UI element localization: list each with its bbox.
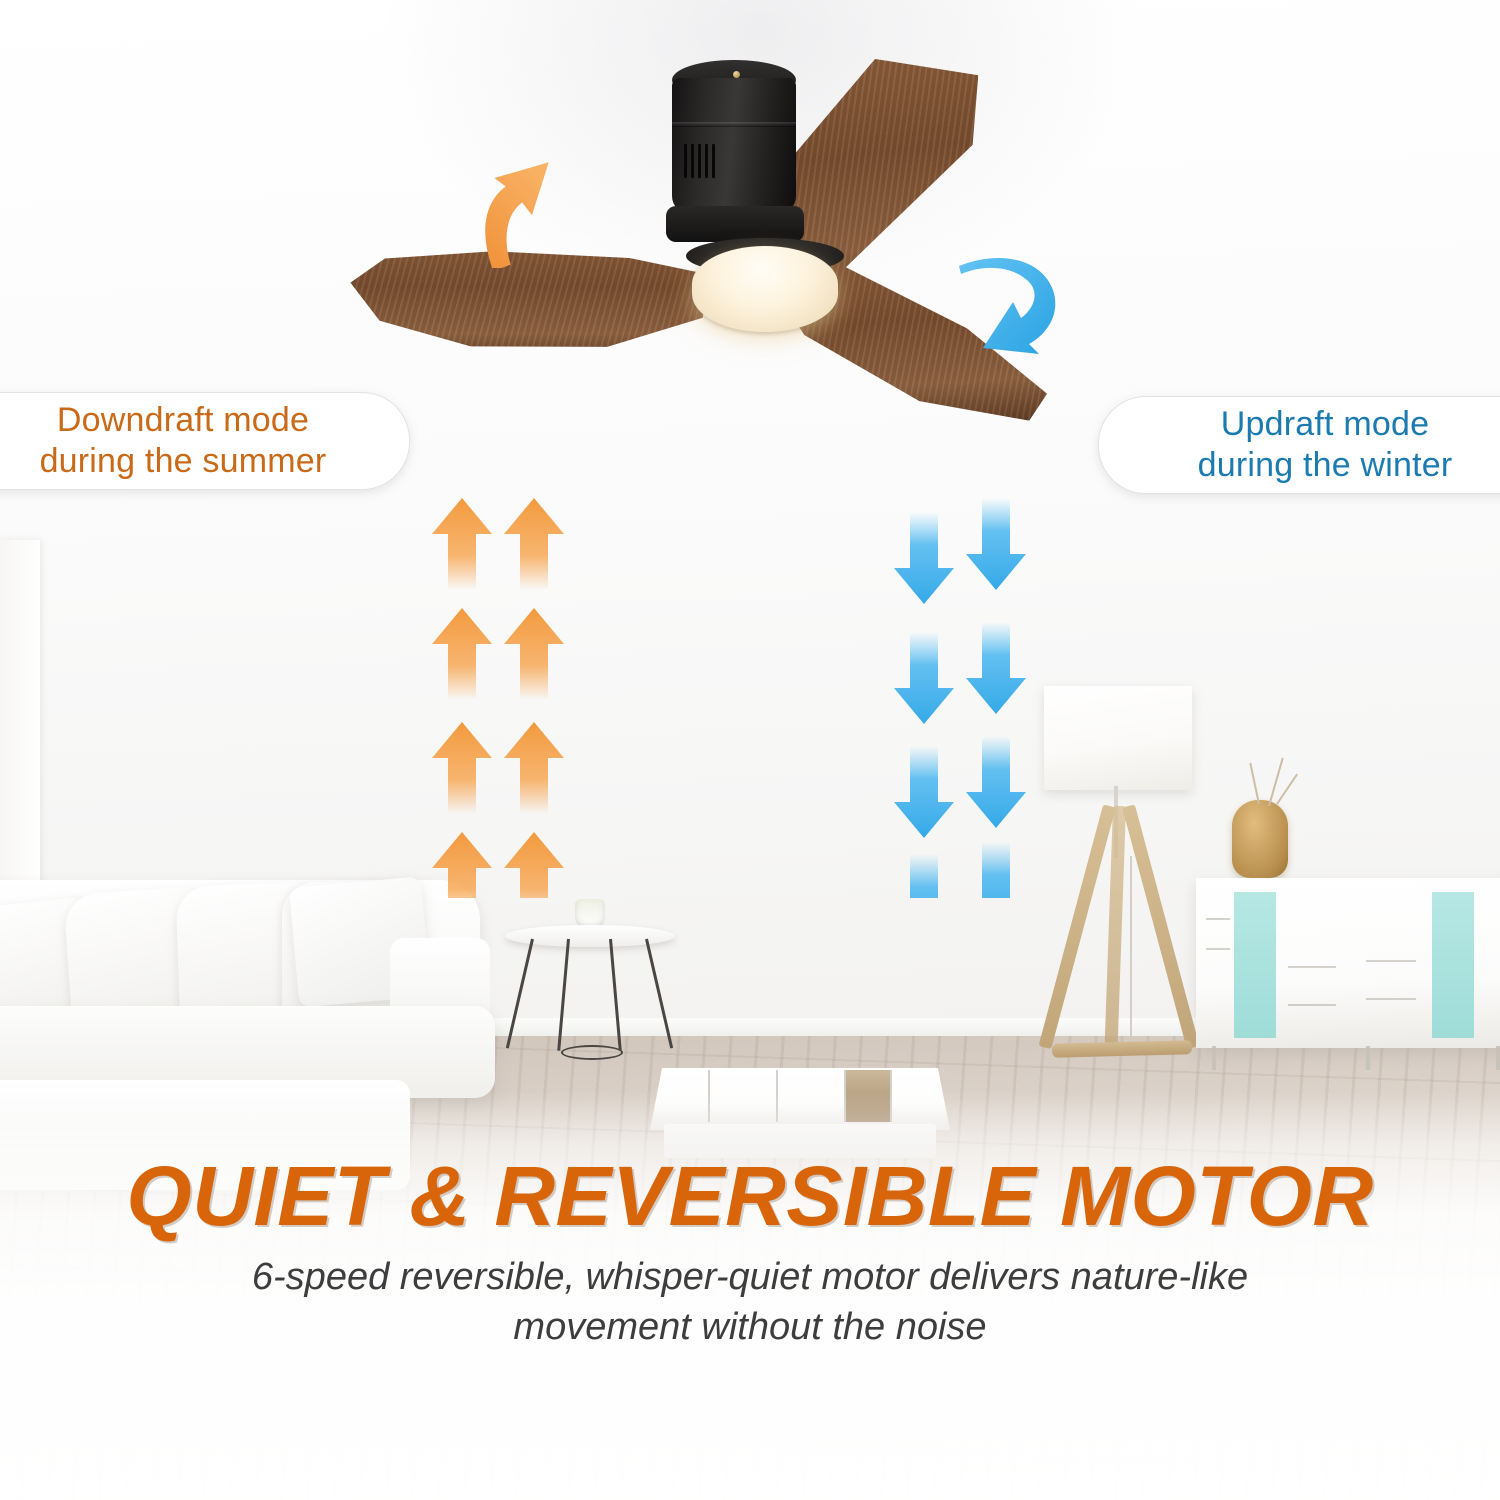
rotation-arrow-left: [470, 158, 590, 273]
sideboard-leg: [1496, 1046, 1500, 1070]
motor-seam: [672, 122, 796, 127]
motor-vent-slot: [705, 144, 708, 178]
sideboard-accent-panel: [1234, 892, 1276, 1038]
drawer-seam: [1366, 998, 1416, 1000]
updraft-mode-label: Updraft mode during the winter: [1098, 396, 1500, 494]
sideboard-cabinet: [1196, 878, 1500, 1070]
motor-canopy: [666, 206, 804, 242]
lamp-leg: [1039, 804, 1116, 1049]
sideboard-leg: [1212, 1046, 1216, 1070]
lamp-cord: [1130, 856, 1132, 1046]
ceiling-fan: [340, 48, 1020, 388]
side-table-leg: [609, 939, 622, 1051]
side-table-leg: [506, 939, 534, 1049]
downdraft-label-line2: during the summer: [40, 441, 327, 482]
woven-basket-vase: [1232, 800, 1288, 878]
drawer-seam: [1366, 960, 1416, 962]
motor-vent-slot: [691, 144, 694, 178]
rotation-arrow-right: [955, 248, 1075, 363]
sideboard-leg: [1366, 1046, 1370, 1070]
downdraft-airflow-arrows: [432, 498, 592, 903]
drawer-seam: [1206, 918, 1230, 920]
sectional-sofa: [0, 880, 520, 1110]
feature-headline: QUIET & REVERSIBLE MOTOR: [0, 1148, 1500, 1245]
fan-motor-housing: [670, 60, 798, 232]
product-feature-image: Downdraft mode during the summer Updraft…: [0, 0, 1500, 1500]
side-table-base-ring: [561, 1045, 623, 1060]
mounting-screw: [733, 71, 740, 78]
motor-vent-slot: [712, 144, 715, 178]
side-table-leg: [645, 939, 673, 1049]
sideboard-body: [1196, 878, 1500, 1048]
sideboard-accent-panel: [1432, 892, 1474, 1038]
led-light-kit: [692, 246, 838, 332]
downdraft-label-line1: Downdraft mode: [40, 400, 327, 441]
motor-vent-slot: [684, 144, 687, 178]
updraft-airflow-arrows: [880, 498, 1050, 903]
lamp-leg: [1104, 806, 1126, 1056]
updraft-label-line2: during the winter: [1198, 445, 1453, 486]
side-table: [505, 925, 675, 1060]
lamp-leg: [1122, 804, 1199, 1049]
side-table-leg: [557, 939, 570, 1051]
subcopy-line1: 6-speed reversible, whisper-quiet motor …: [220, 1252, 1280, 1302]
feature-subcopy: 6-speed reversible, whisper-quiet motor …: [220, 1252, 1280, 1352]
drawer-seam: [1288, 966, 1336, 968]
downdraft-mode-label: Downdraft mode during the summer: [0, 392, 410, 490]
drawer-seam: [1288, 1004, 1336, 1006]
updraft-label-line1: Updraft mode: [1198, 404, 1453, 445]
motor-vent-slot: [698, 144, 701, 178]
subcopy-line2: movement without the noise: [220, 1302, 1280, 1352]
lamp-base: [1052, 1040, 1192, 1058]
lamp-shade: [1044, 686, 1192, 790]
drawer-seam: [1206, 948, 1230, 950]
